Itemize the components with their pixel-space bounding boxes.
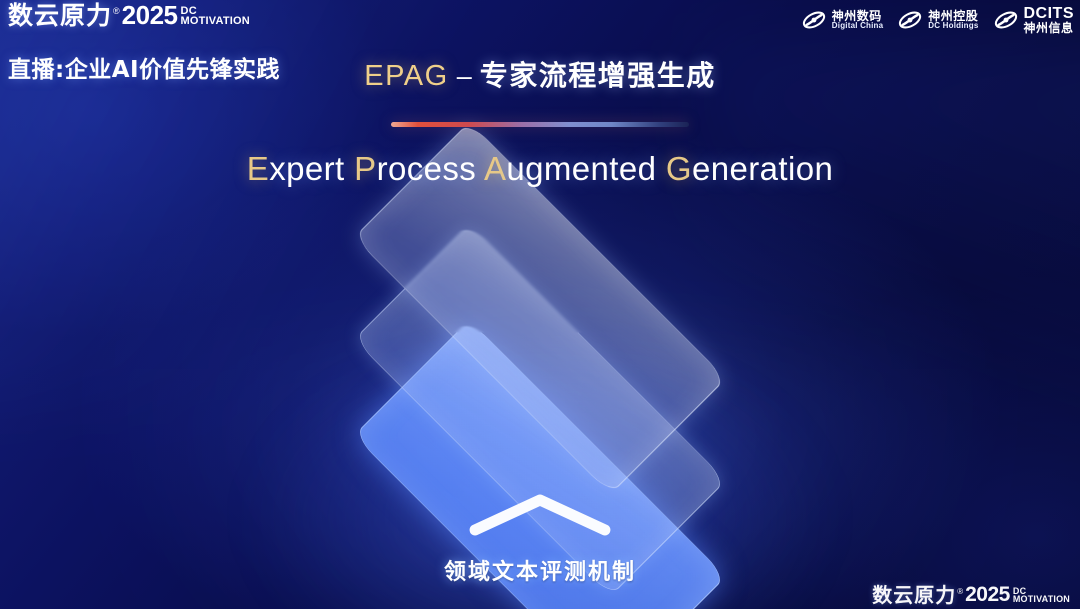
partner-logo-digital-china: 神州数码 Digital China <box>801 7 884 33</box>
subtitle-word-process: Process <box>354 150 476 187</box>
watermark-registered-mark: ® <box>957 587 963 596</box>
subtitle-rest-expert: xpert <box>269 150 344 187</box>
brand-motivation-text: MOTIVATION <box>181 16 250 27</box>
partner-name-cn: 神州信息 <box>1024 22 1075 34</box>
partner-logo-dc-holdings: 神州控股 DC Holdings <box>897 7 978 33</box>
slide-subtitle: Expert Process Augmented Generation <box>0 150 1080 188</box>
partner-logo-dcits: DCITS 神州信息 <box>993 6 1075 35</box>
brand-dc-motivation: DC MOTIVATION <box>181 6 250 27</box>
registered-mark: ® <box>113 6 120 16</box>
watermark-year: 2025 <box>965 584 1010 605</box>
swoosh-icon <box>897 7 923 33</box>
watermark-motivation-text: MOTIVATION <box>1013 595 1070 604</box>
partner-logo-group: 神州数码 Digital China 神州控股 DC Holdings <box>801 6 1074 35</box>
brand-name-cn: 数云原力 <box>8 3 112 28</box>
partner-label-dc-holdings: 神州控股 DC Holdings <box>928 10 978 30</box>
gradient-divider <box>391 122 689 127</box>
layered-architecture-diagram: 领域文本评测机制 Dynamic MOE 长文本记忆 三类语义建模模块 <box>280 222 800 562</box>
swoosh-icon <box>993 7 1019 33</box>
watermark-dc-motivation: DC MOTIVATION <box>1013 587 1070 604</box>
subtitle-initial-g: G <box>666 150 692 187</box>
slide-canvas: 数云原力 ® 2025 DC MOTIVATION 直播:企业AI价值先锋实践 … <box>0 0 1080 609</box>
subtitle-initial-a: A <box>484 150 506 187</box>
partner-name-en: DC Holdings <box>928 22 978 30</box>
top-bar: 数云原力 ® 2025 DC MOTIVATION 直播:企业AI价值先锋实践 … <box>0 0 1080 96</box>
subtitle-word-generation: Generation <box>666 150 833 187</box>
watermark-name-cn: 数云原力 <box>872 585 956 605</box>
subtitle-word-expert: Expert <box>247 150 345 187</box>
brand-logo: 数云原力 ® 2025 DC MOTIVATION <box>8 2 250 28</box>
live-session-title: 直播:企业AI价值先锋实践 <box>8 50 280 84</box>
diagram-label-top: 领域文本评测机制 <box>444 554 636 586</box>
subtitle-rest-augmented: ugmented <box>506 150 656 187</box>
subtitle-initial-p: P <box>354 150 376 187</box>
partner-label-dcits: DCITS 神州信息 <box>1024 6 1075 35</box>
brand-year: 2025 <box>122 2 178 28</box>
partner-name-en: Digital China <box>832 22 884 30</box>
corner-watermark: 数云原力 ® 2025 DC MOTIVATION <box>872 584 1070 605</box>
subtitle-rest-process: rocess <box>377 150 477 187</box>
subtitle-word-augmented: Augmented <box>484 150 656 187</box>
swoosh-icon <box>801 7 827 33</box>
subtitle-initial-e: E <box>247 150 269 187</box>
partner-label-digital-china: 神州数码 Digital China <box>832 10 884 30</box>
subtitle-rest-generation: eneration <box>692 150 833 187</box>
partner-name-en: DCITS <box>1024 6 1075 22</box>
